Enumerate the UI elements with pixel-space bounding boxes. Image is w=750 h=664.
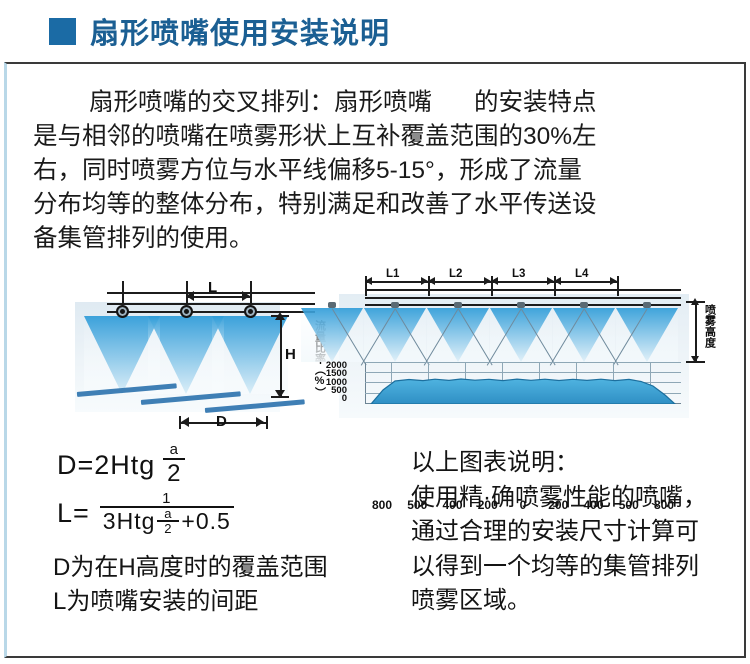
spacing-line-L3	[491, 281, 554, 283]
nozzle-tick-1	[122, 281, 124, 303]
formula-L-fraction: 1 3Htg a 2 +0.5	[100, 491, 234, 535]
nozzle-3	[244, 305, 257, 318]
dimension-arrow-H-up	[275, 312, 285, 320]
formula-D: D=2Htg a 2	[57, 446, 387, 484]
figures-row: L H D 流量比率（%）	[7, 270, 749, 438]
formula-L-den-fraction: a 2	[157, 508, 179, 535]
header-pipe-mid	[365, 297, 681, 299]
intro-paragraph: 扇形喷嘴的交叉排列：扇形喷嘴的安装特点 是与相邻的喷嘴在喷雾形状上互补覆盖范围的…	[33, 86, 733, 256]
flow-distribution-area-path	[365, 362, 681, 404]
definitions-block: D为在H高度时的覆盖范围 L为喷嘴安装的间距	[53, 551, 328, 619]
overlap-cone-fade-2	[427, 308, 489, 362]
overlap-cone-fade-3	[490, 308, 552, 362]
content-panel: 扇形喷嘴的交叉排列：扇形喷嘴的安装特点 是与相邻的喷嘴在喷雾形状上互补覆盖范围的…	[4, 62, 746, 658]
spacing-arrow-L4-left	[554, 277, 561, 285]
dimension-label-D: D	[216, 413, 227, 430]
dimension-arrow-D-right	[256, 417, 264, 427]
intro-line-5: 备集管排列的使用。	[33, 222, 733, 256]
dimension-arrow-H-down	[275, 390, 285, 398]
chart-area-series	[365, 362, 681, 404]
formula-L-numerator: 1	[159, 491, 174, 506]
pipe-rail-mid	[107, 303, 315, 305]
chart-explanation-line-4: 以得到一个均等的集管排列	[411, 550, 707, 585]
nozzle-2	[180, 305, 193, 318]
chart-explanation-line-3: 通过合理的安装尺寸计算可	[411, 515, 707, 550]
spacing-label-L4: L4	[575, 268, 588, 280]
chart-explanation-line-5: 喷雾区域。	[411, 584, 707, 619]
dimension-line-L	[186, 296, 250, 298]
formula-D-numerator: a	[167, 442, 182, 458]
spacing-line-L4	[554, 281, 617, 283]
spray-height-caption: 喷雾高度	[703, 304, 715, 360]
spacing-label-L1: L1	[386, 268, 399, 280]
spacing-arrow-L3-right	[547, 277, 554, 285]
overlapping-spray-distribution-diagram: L1 L2 L3 L4	[307, 270, 727, 438]
chart-explanation-block: 以上图表说明： 使用精·确喷雾性能的喷嘴， 通过合理的安装尺寸计算可 以得到一个…	[411, 446, 707, 619]
spacing-arrow-L4-right	[610, 277, 617, 285]
overlap-cone-fade-4	[553, 308, 615, 362]
blue-square-icon	[49, 18, 76, 45]
header-pipe-top	[365, 289, 681, 291]
flow-distribution-chart	[365, 362, 681, 404]
chart-explanation-heading: 以上图表说明：	[411, 446, 707, 481]
chart-y-tick-3: 500	[307, 387, 347, 395]
formula-L-den-a: 3Htg	[103, 513, 156, 529]
overlap-cone-fade-1	[364, 308, 426, 362]
spacing-arrow-L2-right	[484, 277, 491, 285]
header-nozzle-1	[391, 302, 399, 308]
dimension-label-L: L	[208, 279, 217, 296]
chart-explanation-line-2: 使用精·确喷雾性能的喷嘴，	[411, 481, 707, 516]
spacing-arrow-L1-right	[421, 277, 428, 285]
single-nozzle-spray-diagram: L H D	[75, 270, 315, 430]
overlap-cone-fade-0	[301, 308, 363, 362]
formula-L-lhs: L=	[57, 498, 90, 529]
nozzle-1	[116, 305, 129, 318]
formula-L-den-b: +0.5	[181, 513, 230, 529]
overlap-cone-fade-5	[616, 308, 678, 362]
page-title: 扇形喷嘴使用安装说明	[90, 10, 390, 52]
spacing-arrow-L2-left	[428, 277, 435, 285]
spacing-line-L1	[365, 281, 428, 283]
header-nozzle-2	[454, 302, 462, 308]
intro-line-4: 分布均等的整体分布，特别满足和改善了水平传送设	[33, 188, 733, 222]
formula-L: L= 1 3Htg a 2 +0.5	[57, 490, 387, 536]
chart-y-tick-4: 0	[307, 395, 347, 403]
dimension-label-H: H	[285, 346, 296, 363]
dimension-arrow-L-right	[242, 291, 250, 301]
chart-y-ticklabels: 2000 1500 1000 500 0	[307, 362, 347, 403]
definition-L: L为喷嘴安装的间距	[53, 585, 328, 619]
spray-height-arrow-up	[691, 298, 699, 305]
dimension-arrow-D-left	[181, 417, 189, 427]
intro-line-1a: 扇形喷嘴的交叉排列：扇形喷嘴	[89, 89, 432, 116]
formula-D-fraction: a 2	[163, 442, 185, 488]
page-title-bar: 扇形喷嘴使用安装说明	[0, 6, 750, 56]
formula-D-lhs: D=2Htg	[57, 450, 155, 481]
spray-height-arrow-down	[691, 356, 699, 363]
spacing-tick-4	[617, 276, 619, 296]
spacing-line-L2	[428, 281, 491, 283]
header-nozzle-5	[643, 302, 651, 308]
spray-cone-3	[212, 316, 288, 394]
spacing-arrow-L1-left	[365, 277, 372, 285]
nozzle-tick-3	[250, 281, 252, 303]
formula-L-denominator: 3Htg a 2 +0.5	[100, 508, 234, 535]
header-nozzle-0	[328, 302, 336, 308]
formula-L-den-frac-den: 2	[161, 522, 175, 535]
page-root: 扇形喷嘴使用安装说明 扇形喷嘴的交叉排列：扇形喷嘴的安装特点 是与相邻的喷嘴在喷…	[0, 0, 750, 664]
intro-line-2: 是与相邻的喷嘴在喷雾形状上互补覆盖范围的30%左	[33, 120, 733, 154]
formula-L-den-frac-num: a	[161, 508, 175, 520]
spacing-label-L2: L2	[449, 268, 462, 280]
spacing-arrow-L3-left	[491, 277, 498, 285]
formula-block: D=2Htg a 2 L= 1 3Htg a	[57, 446, 387, 536]
formula-D-denominator: 2	[164, 460, 184, 488]
spray-height-line	[695, 302, 697, 362]
spacing-label-L3: L3	[512, 268, 525, 280]
intro-line-3: 右，同时喷雾方位与水平线偏移5-15°，形成了流量	[33, 154, 733, 188]
header-nozzle-4	[580, 302, 588, 308]
intro-line-1: 扇形喷嘴的交叉排列：扇形喷嘴的安装特点	[33, 86, 733, 120]
dimension-line-H	[280, 316, 282, 396]
dimension-arrow-L-left	[186, 291, 194, 301]
header-nozzle-3	[517, 302, 525, 308]
intro-line-1b: 的安装特点	[474, 89, 597, 116]
definition-D: D为在H高度时的覆盖范围	[53, 551, 328, 585]
